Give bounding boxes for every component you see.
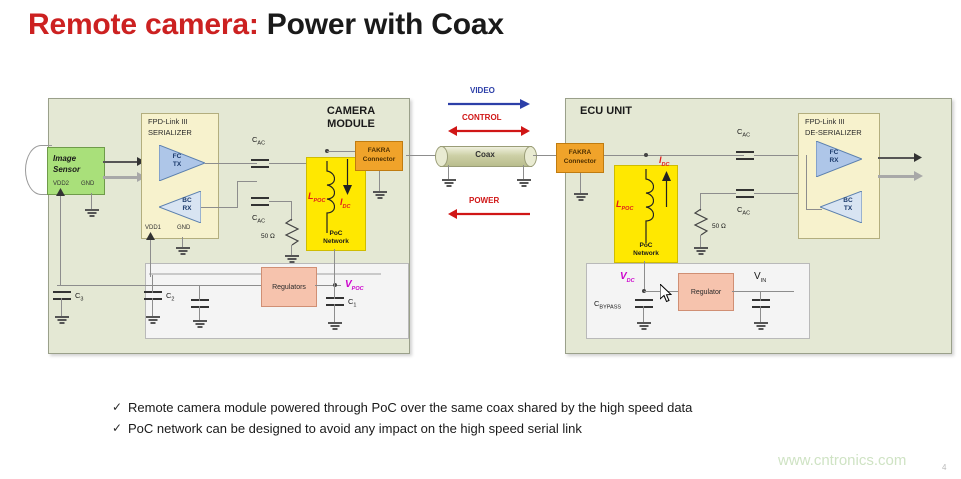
regulator-block-ecu: Regulator xyxy=(678,273,734,311)
image-sensor-vdd2-label: VDD2 xyxy=(53,181,69,187)
bc-rx-amplifier: BC RX xyxy=(159,191,201,223)
c3-sub: 3 xyxy=(80,297,83,303)
ser-out-wire-bot-h2 xyxy=(237,181,257,182)
bullet-item: ✓ PoC network can be designed to avoid a… xyxy=(112,421,692,437)
serializer-gnd-label: GND xyxy=(177,225,190,231)
page-number: 4 xyxy=(942,463,946,472)
cap-ac-bot-ecu-right xyxy=(754,193,800,194)
fakra-connector-ecu: FAKRA Connector xyxy=(556,143,604,173)
reg-to-vin-wire xyxy=(732,291,794,292)
res-top-wire xyxy=(291,201,292,221)
rail-wire-b xyxy=(57,285,281,286)
idc-sub-ecu: DC xyxy=(662,162,670,168)
fakra-line1-camera: FAKRA xyxy=(368,147,390,154)
vin-sub: IN xyxy=(761,278,767,284)
bc-rx-label: BC RX xyxy=(175,197,199,213)
cap-ac-bottom-camera-label: CAC xyxy=(252,213,265,225)
inductor-lpoc-ecu xyxy=(638,169,654,243)
fc-tx-label: FC TX xyxy=(164,153,190,169)
cap-ac-top-camera xyxy=(251,155,269,173)
fc-rx-line2: RX xyxy=(829,157,838,164)
fakra-ground-ecu xyxy=(574,193,588,203)
fakra-to-node-wire-ecu xyxy=(604,155,744,156)
power-arrow xyxy=(448,209,530,219)
coax-ground-right xyxy=(517,179,531,189)
fakra-line2-ecu: Connector xyxy=(564,158,597,165)
vin-letter: V xyxy=(754,271,761,282)
resistor-50ohm-ecu-label: 50 Ω xyxy=(712,223,726,230)
image-sensor-label-line1: Image xyxy=(53,153,80,164)
lpoc-sub-camera: POC xyxy=(314,198,326,204)
deser-out-arrow-2 xyxy=(914,171,923,181)
cap-ac-top-sub: AC xyxy=(257,141,265,147)
ecu-unit-panel: ECU UNIT FAKRA Connector PoC Network LPO… xyxy=(565,98,952,354)
ser-out-wire-bot-v xyxy=(237,181,238,208)
vdd1-arrow xyxy=(146,232,155,240)
ser-out-wire-bot xyxy=(201,207,237,208)
c2-top-wire xyxy=(152,275,153,293)
deserializer-label-line1: FPD-Link III xyxy=(805,117,845,127)
cap-ac-bot-ecu-left xyxy=(700,193,736,194)
cap-c2-label: C2 xyxy=(166,291,174,303)
cap-c2 xyxy=(144,291,162,307)
deser-bc-wire-h xyxy=(806,209,822,210)
cap-mid-unlabeled xyxy=(191,299,209,315)
image-sensor-gnd-label: GND xyxy=(81,181,94,187)
vdd1-feed-wire xyxy=(150,237,151,277)
deser-bc-wire-v xyxy=(806,155,807,209)
resistor-50ohm-camera-label: 50 Ω xyxy=(261,233,275,240)
cap-c3 xyxy=(53,291,71,307)
resistor-50ohm-camera xyxy=(284,219,300,249)
bc-tx-line1: BC xyxy=(843,197,852,204)
vpoc-wire xyxy=(315,285,341,286)
bc-tx-label: BC TX xyxy=(836,197,860,213)
poc-label-line2-camera: Network xyxy=(323,238,349,245)
c2-gnd-wire xyxy=(152,298,153,316)
coax-gnd-right-wire xyxy=(523,165,524,179)
vdc-feed-wire xyxy=(644,261,645,291)
lpoc-sub-ecu: POC xyxy=(622,206,634,212)
vdd2-arrow xyxy=(56,188,65,196)
fc-tx-line2: TX xyxy=(173,161,181,168)
fakra-ground-camera xyxy=(373,191,387,201)
vdc-label: VDC xyxy=(620,271,635,284)
cap-vin-top-wire xyxy=(760,291,761,301)
lpoc-label-camera: LPOC xyxy=(308,191,325,204)
control-label: CONTROL xyxy=(462,113,502,122)
control-arrow xyxy=(448,126,530,136)
cap-ac-top-ecu-label: CAC xyxy=(737,127,750,139)
resistor-ground-ecu xyxy=(694,247,708,257)
fakra-line2-camera: Connector xyxy=(363,156,396,163)
res-ecu-bot-wire xyxy=(700,235,701,247)
title-red-part: Remote camera: xyxy=(28,8,259,41)
cap-mid-ground xyxy=(193,320,207,330)
watermark: www.cntronics.com xyxy=(778,452,906,469)
coax-node-ecu xyxy=(644,153,648,157)
image-sensor-label-line2: Sensor xyxy=(53,164,80,175)
camera-module-panel: CAMERA MODULE Image Sensor VDD2 GND FPD-… xyxy=(48,98,410,354)
poc-label-line2-ecu: Network xyxy=(633,250,659,257)
serializer-vdd1-label: VDD1 xyxy=(145,225,161,231)
c1-ground xyxy=(328,322,342,332)
cap-ac-bottom-ecu-label: CAC xyxy=(737,205,750,217)
mouse-cursor xyxy=(660,284,674,304)
sensor-gnd-wire xyxy=(91,193,92,209)
fakra-connector-camera: FAKRA Connector xyxy=(355,141,403,171)
cap-ac-top-camera-label: CAC xyxy=(252,135,265,147)
serializer-label-line1: FPD-Link III xyxy=(148,117,188,127)
camera-title-line2: MODULE xyxy=(296,118,406,131)
sensor-data-wire-1 xyxy=(103,161,139,163)
cap-bypass-label: CBYPASS xyxy=(594,299,621,311)
lpoc-label-ecu: LPOC xyxy=(616,199,633,212)
poc-network-label-camera: PoC Network xyxy=(307,230,365,246)
cap-ac-top-ecu xyxy=(736,147,754,165)
deser-out-arrow-1 xyxy=(914,153,922,162)
bullet-text: PoC network can be designed to avoid any… xyxy=(128,421,582,437)
page-title: Remote camera: Power with Coax xyxy=(28,8,504,42)
cap-ac-bot-sub: AC xyxy=(257,219,265,225)
fakra-line1-ecu: FAKRA xyxy=(569,149,591,156)
cap-vin xyxy=(752,299,770,315)
cap-ac-bot-ecu-sub: AC xyxy=(742,211,750,217)
vpoc-label: VPOC xyxy=(345,279,364,292)
cbypass-ground xyxy=(637,322,651,332)
bc-tx-amplifier: BC TX xyxy=(820,191,862,223)
vdd2-feed-wire xyxy=(60,193,61,285)
coax-gnd-left-wire xyxy=(448,165,449,179)
cap-mid-gnd-wire xyxy=(199,306,200,320)
cap-c3-label: C3 xyxy=(75,291,83,303)
c3-ground xyxy=(55,316,69,326)
bullet-list: ✓ Remote camera module powered through P… xyxy=(112,400,692,442)
cbypass-gnd-wire xyxy=(643,306,644,322)
vdc-letter: V xyxy=(620,271,627,282)
check-icon: ✓ xyxy=(112,421,128,435)
cap-ac-bottom-right-wire xyxy=(269,201,291,202)
c1-top-wire xyxy=(334,249,335,299)
c2-ground xyxy=(146,316,160,326)
c1-sub: 1 xyxy=(353,303,356,309)
fc-tx-amplifier: FC TX xyxy=(159,145,205,181)
bc-tx-line2: TX xyxy=(844,205,852,212)
ser-out-wire-top xyxy=(205,163,257,164)
deserializer-label-line2: DE-SERIALIZER xyxy=(805,128,862,138)
serializer-ground xyxy=(176,247,190,257)
fc-rx-line1: FC xyxy=(830,149,839,156)
ecu-unit-title: ECU UNIT xyxy=(580,105,690,118)
fc-tx-line1: FC xyxy=(173,153,182,160)
coax-ground-left xyxy=(442,179,456,189)
vpoc-letter: V xyxy=(345,279,352,290)
sensor-data-wire-2 xyxy=(103,176,139,179)
cap-c1-label: C1 xyxy=(348,297,356,309)
c2-sub: 2 xyxy=(171,297,174,303)
c1-gnd-wire xyxy=(334,304,335,322)
vdc-sub: DC xyxy=(627,278,635,284)
idc-arrow-camera xyxy=(343,159,352,195)
resistor-50ohm-ecu xyxy=(693,209,709,239)
bc-rx-line1: BC xyxy=(182,197,191,204)
idc-arrow-ecu xyxy=(662,169,671,207)
serializer-label-line2: SERIALIZER xyxy=(148,128,192,138)
video-label: VIDEO xyxy=(470,86,495,95)
poc-network-label-ecu: PoC Network xyxy=(615,242,677,258)
cap-bypass xyxy=(635,299,653,315)
bc-rx-line2: RX xyxy=(182,205,191,212)
idc-label-ecu: IDC xyxy=(659,155,669,168)
fakra-gnd-wire-ecu xyxy=(580,173,581,193)
vin-label: VIN xyxy=(754,271,766,284)
poc-network-block-camera: PoC Network xyxy=(306,157,366,251)
bullet-item: ✓ Remote camera module powered through P… xyxy=(112,400,692,416)
check-icon: ✓ xyxy=(112,400,128,414)
idc-label-camera: IDC xyxy=(340,197,350,210)
cap-c1 xyxy=(326,297,344,313)
cap-vin-gnd-wire xyxy=(760,306,761,322)
slide-canvas: Remote camera: Power with Coax CAMERA MO… xyxy=(0,0,961,479)
power-label: POWER xyxy=(469,196,499,205)
res-bottom-wire xyxy=(291,245,292,255)
title-black-part: Power with Coax xyxy=(267,8,504,41)
deser-out-wire-2 xyxy=(878,175,916,178)
cap-vin-ground xyxy=(754,322,768,332)
cbypass-sub: BYPASS xyxy=(599,305,621,311)
regulators-block-camera: Regulators xyxy=(261,267,317,307)
coax-label: Coax xyxy=(440,150,530,159)
cap-ac-top-ecu-sub: AC xyxy=(742,133,750,139)
sensor-ground xyxy=(85,209,99,219)
vpoc-sub: POC xyxy=(352,286,364,292)
fc-rx-label: FC RX xyxy=(821,149,847,165)
cap-ac-bottom-ecu xyxy=(736,185,754,203)
cap-mid-top-wire xyxy=(199,285,200,301)
poc-label-line1-ecu: PoC xyxy=(640,242,653,249)
c3-gnd-wire xyxy=(61,298,62,316)
fc-rx-amplifier: FC RX xyxy=(816,141,862,177)
ser-gnd-wire xyxy=(182,237,183,247)
deser-out-wire-1 xyxy=(878,157,916,159)
cap-ac-top-ecu-right xyxy=(754,155,800,156)
camera-title-line1: CAMERA xyxy=(296,105,406,118)
camera-module-title: CAMERA MODULE xyxy=(296,105,406,131)
fakra-gnd-wire-camera xyxy=(379,171,380,191)
idc-sub-camera: DC xyxy=(343,204,351,210)
bullet-text: Remote camera module powered through PoC… xyxy=(128,400,692,416)
video-arrow xyxy=(448,99,530,109)
cap-ac-bottom-camera xyxy=(251,193,269,211)
